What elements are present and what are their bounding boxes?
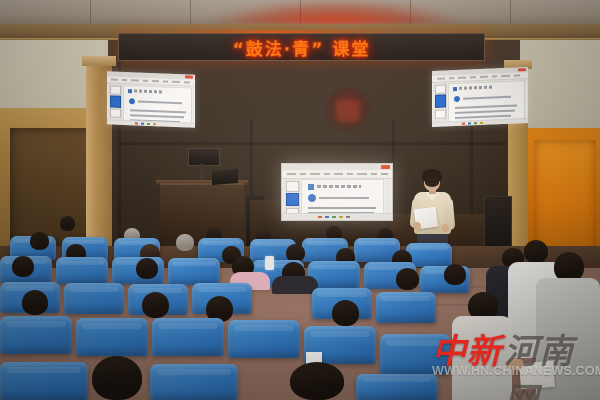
wall-upper-right-panel [520, 40, 600, 128]
smartphone-icon [265, 256, 274, 270]
screen-tab-accent [518, 68, 526, 71]
slide-thumbnail [286, 181, 299, 192]
auditorium-chair [150, 364, 238, 400]
presenter-left-hand [413, 222, 421, 230]
auditorium-chair [56, 257, 108, 284]
led-ceiling-glow [210, 0, 460, 24]
screen-document-area [123, 85, 192, 124]
screen-document-area [448, 80, 525, 122]
screen-thumbnail-pane [108, 83, 122, 121]
screen-tab-accent [381, 165, 390, 169]
screen-tab-accent [185, 75, 193, 78]
left-projection-screen [107, 71, 195, 127]
auditorium-chair [76, 318, 148, 356]
podium-monitor [188, 148, 220, 166]
right-projection-screen [432, 67, 528, 127]
doc-header-icon [453, 87, 457, 91]
slide-thumbnail-active [110, 95, 121, 107]
presenter-hair-back [425, 178, 439, 187]
slide-thumbnail [435, 84, 446, 93]
audience-head [22, 290, 48, 315]
doc-header-text [459, 85, 493, 89]
audience-head [290, 362, 344, 400]
slide-thumbnail [110, 85, 121, 94]
auditorium-chair [152, 318, 224, 356]
left-pillar-capital [82, 56, 116, 66]
slide-thumbnail-active [286, 193, 299, 206]
screen-thumbnail-pane [433, 82, 447, 123]
standing-attendee-handout [519, 361, 555, 389]
screen-document-area [301, 179, 384, 214]
auditorium-photo: “鼓法·青” 课堂 [0, 0, 600, 400]
right-lit-alcove [534, 140, 596, 256]
screen-ribbon [282, 170, 392, 179]
audience-shoulders [272, 276, 318, 294]
auditorium-chair [64, 283, 124, 314]
center-projection-screen [281, 163, 393, 221]
presenter-right-hand [441, 224, 449, 232]
ceiling-grid-line [190, 0, 191, 26]
auditorium-chair [0, 362, 88, 400]
ceiling-grid-line [510, 0, 511, 26]
wall-rail-seam [120, 142, 506, 145]
audience-head [12, 256, 34, 277]
audience-head [176, 234, 194, 251]
national-emblem-core [336, 100, 360, 122]
audience-head [60, 216, 75, 231]
audience-head [142, 292, 169, 318]
auditorium-chair [356, 374, 438, 400]
led-banner-text: “鼓法·青” 课堂 [233, 35, 371, 60]
auditorium-chair [376, 292, 436, 323]
audience-head [92, 356, 142, 400]
audience-head [136, 258, 158, 279]
doc-header-text [317, 185, 361, 188]
doc-header-icon [128, 89, 132, 93]
led-banner: “鼓法·青” 课堂 [118, 33, 485, 61]
screen-statusbar [282, 213, 392, 220]
doc-bullet-icon [129, 98, 135, 104]
standing-attendee-hand [506, 358, 524, 370]
audience-head [30, 232, 49, 250]
auditorium-chair [228, 320, 300, 358]
doc-header-icon [308, 184, 314, 190]
auditorium-chair [168, 258, 220, 285]
doc-bullet-icon [308, 194, 316, 202]
screen-scrollbar[interactable] [385, 179, 391, 214]
screen-thumbnail-pane [283, 179, 300, 214]
podium [160, 183, 244, 245]
doc-bullet-icon [454, 96, 460, 102]
auditorium-chair [0, 316, 72, 354]
laptop-icon [212, 169, 238, 185]
doc-header-text [134, 89, 164, 93]
audience-head [444, 264, 466, 285]
audience-head [396, 268, 419, 290]
ceiling-grid-line [90, 0, 91, 26]
slide-thumbnail [435, 109, 446, 118]
audience-head [332, 300, 359, 326]
slide-thumbnail-active [435, 94, 446, 107]
slide-thumbnail [110, 108, 121, 117]
auditorium-chair [380, 334, 450, 374]
